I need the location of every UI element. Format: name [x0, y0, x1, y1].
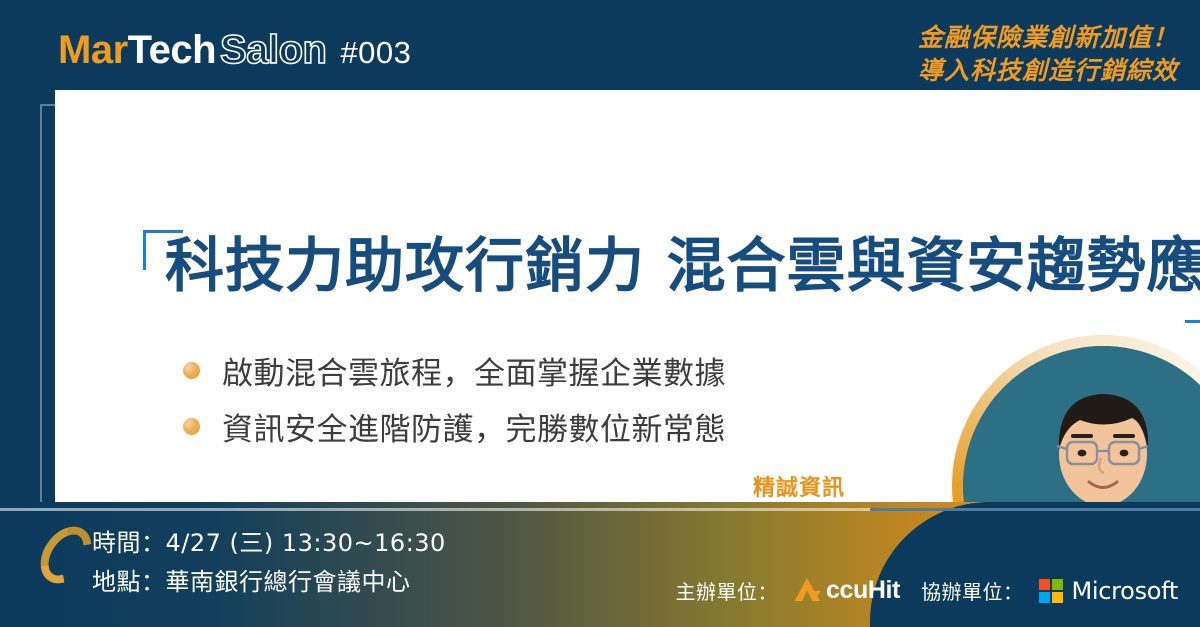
bullet-list: 啟動混合雲旅程，全面掌握企業數據 資訊安全進階防護，完勝數位新常態 — [183, 348, 726, 460]
portrait-illustration — [963, 346, 1200, 502]
band-divider-line-right — [870, 508, 1200, 511]
organizer-label: 主辦單位： — [675, 576, 778, 605]
bullet-text: 資訊安全進階防護，完勝數位新常態 — [222, 404, 726, 449]
event-details: 時間：4/27 (三) 13:30~16:30 地點：華南銀行總行會議中心 — [92, 524, 446, 602]
event-time: 時間：4/27 (三) 13:30~16:30 — [92, 524, 446, 563]
speaker-company: 精誠資訊 — [415, 472, 845, 502]
speaker-photo — [952, 335, 1200, 502]
coorganizer-label: 協辦單位： — [921, 576, 1024, 605]
bullet-dot-icon — [183, 362, 200, 379]
event-place: 地點：華南銀行總行會議中心 — [92, 563, 446, 602]
accuhit-wordmark: ccuHit — [826, 576, 900, 605]
sponsor-row: 主辦單位： ccuHit 協辦單位： Microsoft — [675, 576, 1178, 605]
bullet-text: 啟動混合雲旅程，全面掌握企業數據 — [222, 348, 726, 393]
tagline-line-2: 導入科技創造行銷綜效 — [918, 55, 1178, 88]
list-item: 啟動混合雲旅程，全面掌握企業數據 — [183, 348, 726, 392]
microsoft-logo[interactable]: Microsoft — [1039, 577, 1178, 605]
microsoft-squares-icon — [1039, 579, 1063, 603]
brand-mar: Mar — [58, 28, 128, 72]
accuhit-logo[interactable]: ccuHit — [794, 576, 905, 605]
brand-tech: Tech — [128, 28, 216, 72]
tagline: 金融保險業創新加值！ 導入科技創造行銷綜效 — [918, 22, 1178, 89]
band-navy-panel — [870, 502, 1200, 627]
content-card: 科技力助攻行銷力 混合雲與資安趨勢應用 啟動混合雲旅程，全面掌握企業數據 資訊安… — [55, 90, 1200, 502]
brand-issue-number: #003 — [340, 35, 411, 70]
bullet-dot-icon — [183, 418, 200, 435]
brand-logo: MarTechSalon#003 — [58, 30, 411, 70]
microsoft-wordmark: Microsoft — [1071, 577, 1178, 605]
speaker-info: 精誠資訊 科技創新服務事業部 處長 黃嘉洋 Rich — [415, 472, 845, 502]
session-title: 科技力助攻行銷力 混合雲與資安趨勢應用 — [165, 232, 1200, 300]
tagline-line-1: 金融保險業創新加值！ — [918, 22, 1178, 55]
accuhit-mark-icon — [794, 577, 830, 604]
list-item: 資訊安全進階防護，完勝數位新常態 — [183, 404, 726, 448]
poster-canvas: MarTechSalon#003 金融保險業創新加值！ 導入科技創造行銷綜效 科… — [0, 0, 1200, 627]
brand-salon: Salon — [220, 28, 326, 72]
photo-portrait — [963, 346, 1200, 502]
